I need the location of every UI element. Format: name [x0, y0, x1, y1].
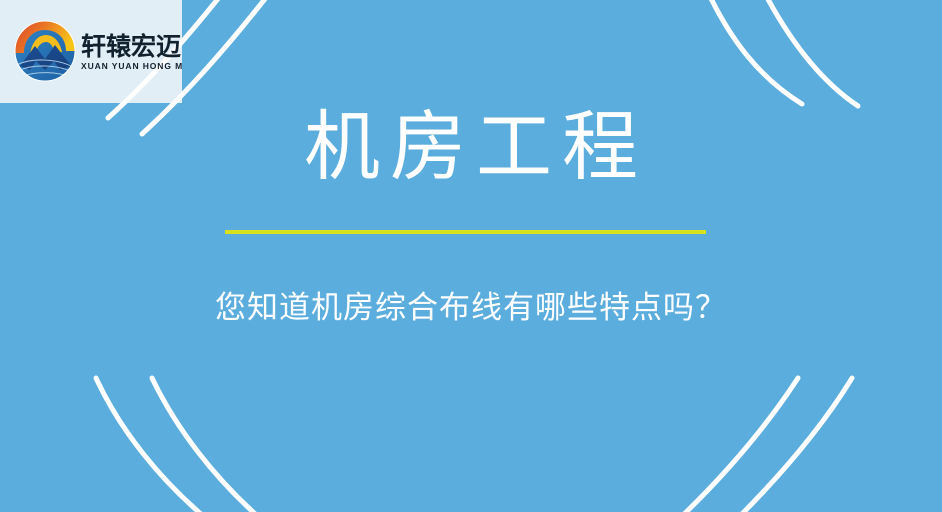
company-logo-icon [14, 20, 76, 82]
company-name-en: XUAN YUAN HONG MAI [81, 62, 182, 71]
company-name-cn: 轩辕宏迈 [81, 34, 182, 59]
page-title: 机房工程 [0, 104, 942, 189]
promo-slide: 轩辕宏迈 XUAN YUAN HONG MAI 机房工程 您知道机房综合布线有哪… [0, 0, 942, 512]
logo-lockup[interactable]: 轩辕宏迈 XUAN YUAN HONG MAI [14, 19, 174, 83]
logo-panel: 轩辕宏迈 XUAN YUAN HONG MAI [0, 0, 182, 103]
logo-wordmark: 轩辕宏迈 XUAN YUAN HONG MAI [81, 31, 182, 71]
title-divider [225, 230, 706, 234]
page-subtitle: 您知道机房综合布线有哪些特点吗？ [0, 288, 942, 328]
